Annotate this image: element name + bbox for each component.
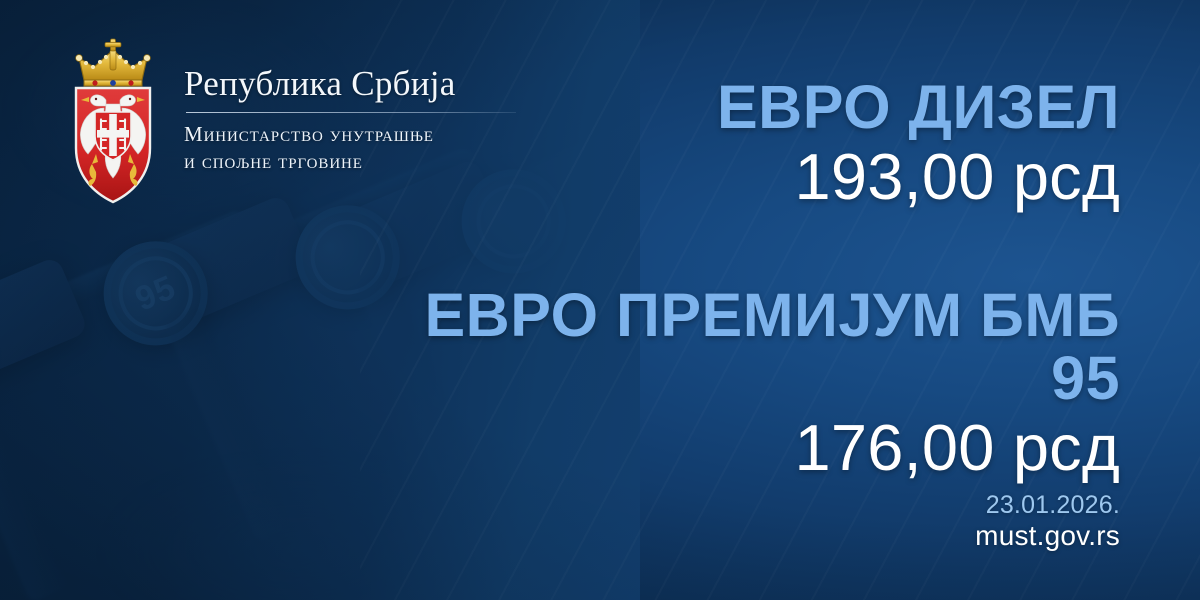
nozzle-body — [108, 194, 315, 344]
footer-block: 23.01.2026. must.gov.rs — [975, 491, 1120, 552]
publication-date: 23.01.2026. — [975, 491, 1120, 520]
poster-canvas: 95 — [0, 0, 1200, 600]
fuel-name: ЕВРО ДИЗЕЛ — [360, 76, 1120, 138]
website-url[interactable]: must.gov.rs — [975, 520, 1120, 552]
nozzle-stalk — [0, 367, 68, 600]
crown-icon — [76, 39, 151, 86]
nozzle-head: 95 — [88, 225, 224, 361]
nozzle-hose — [31, 207, 253, 321]
fuel-price-item-euro-diesel: ЕВРО ДИЗЕЛ 193,00 рсд — [360, 76, 1120, 212]
fuel-price: 176,00 рсд — [360, 413, 1120, 483]
nozzle-body — [0, 256, 89, 406]
shield-icon — [76, 88, 150, 202]
fuel-price-item-euro-premium-bmb-95: ЕВРО ПРЕМИЈУМ БМБ 95 176,00 рсд — [360, 284, 1120, 483]
nozzle-stalk — [163, 305, 294, 542]
nozzle-gauge-label: 95 — [88, 225, 224, 361]
fuel-name: ЕВРО ПРЕМИЈУМ БМБ 95 — [360, 284, 1120, 408]
fuel-price: 193,00 рсд — [360, 142, 1120, 212]
serbian-coat-of-arms-icon — [62, 36, 164, 206]
fuel-price-list: ЕВРО ДИЗЕЛ 193,00 рсд ЕВРО ПРЕМИЈУМ БМБ … — [360, 76, 1120, 483]
nozzle-gauge-ring — [107, 245, 204, 342]
